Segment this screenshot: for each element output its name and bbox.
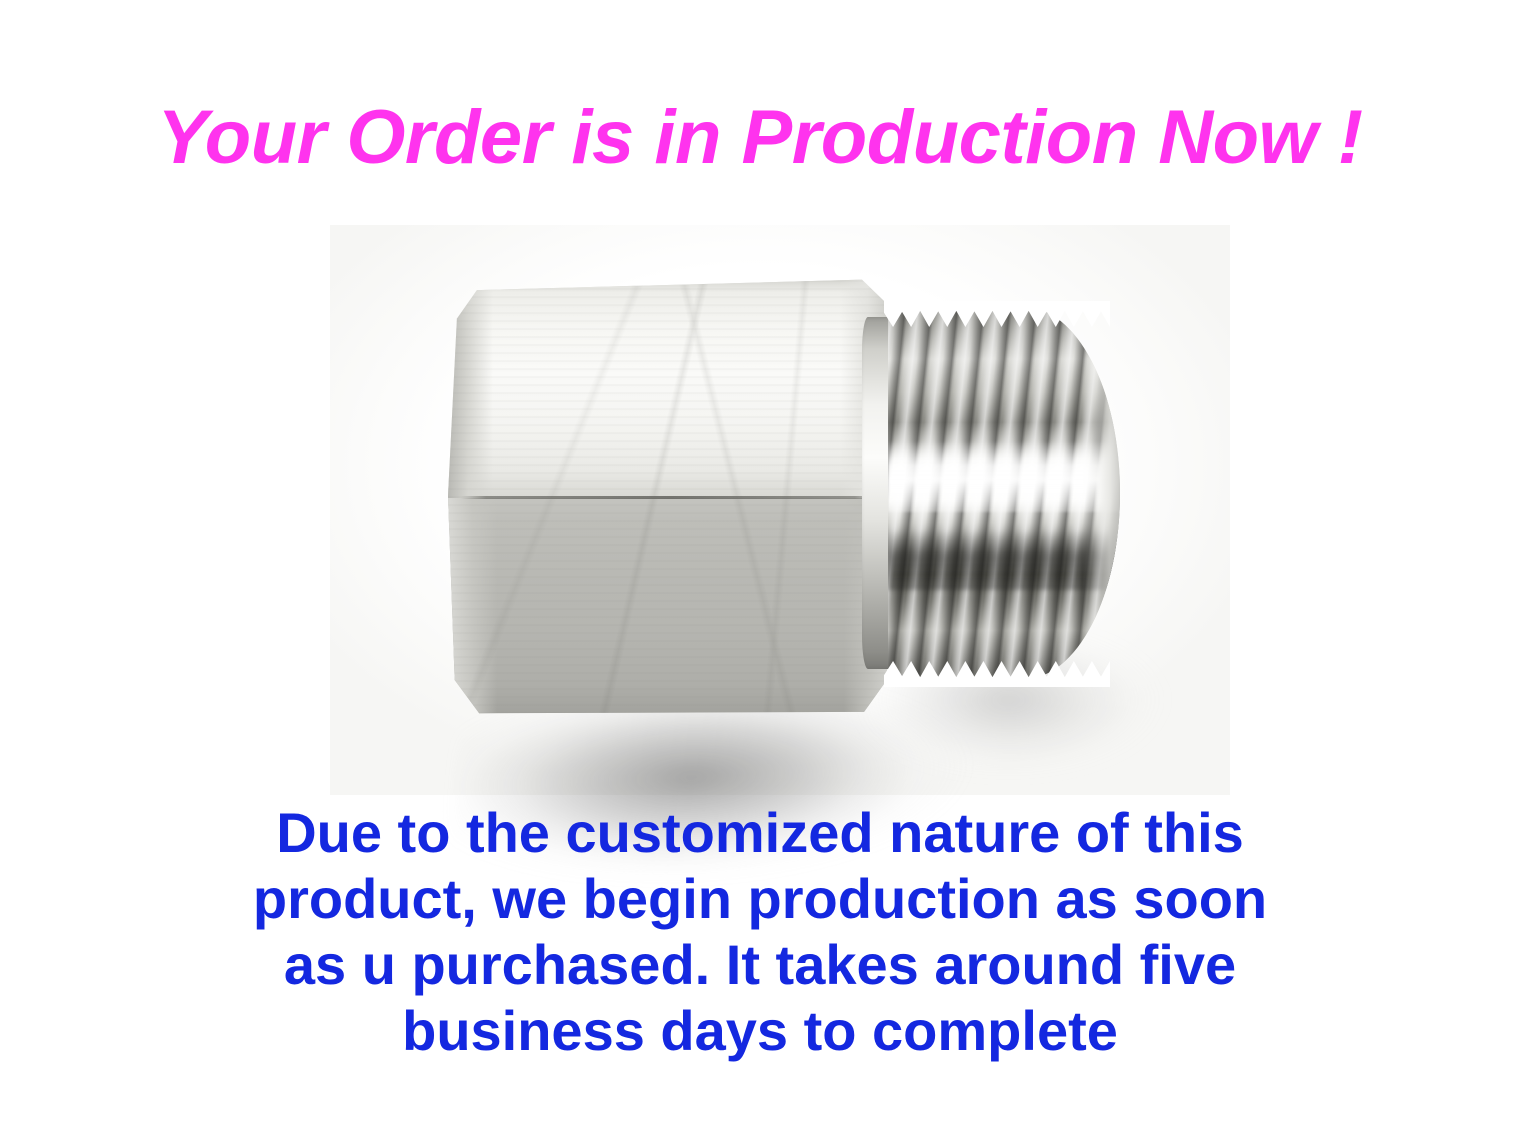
notice-line-4: business days to complete — [0, 998, 1520, 1064]
promo-banner: Your Order is in Production Now ! — [0, 0, 1520, 1140]
product-photo — [0, 215, 1520, 800]
page-title: Your Order is in Production Now ! — [0, 94, 1520, 182]
notice-line-3: as u purchased. It takes around five — [0, 932, 1520, 998]
notice-line-1: Due to the customized nature of this — [0, 800, 1520, 866]
notice-line-2: product, we begin production as soon — [0, 866, 1520, 932]
production-notice: Due to the customized nature of this pro… — [0, 800, 1520, 1064]
hex-adapter-fitting — [0, 215, 1520, 800]
hex-nut-body — [448, 277, 893, 715]
male-threaded-end — [888, 307, 1120, 679]
surface-scratches — [448, 277, 893, 715]
thread-end-cap — [1082, 307, 1120, 679]
